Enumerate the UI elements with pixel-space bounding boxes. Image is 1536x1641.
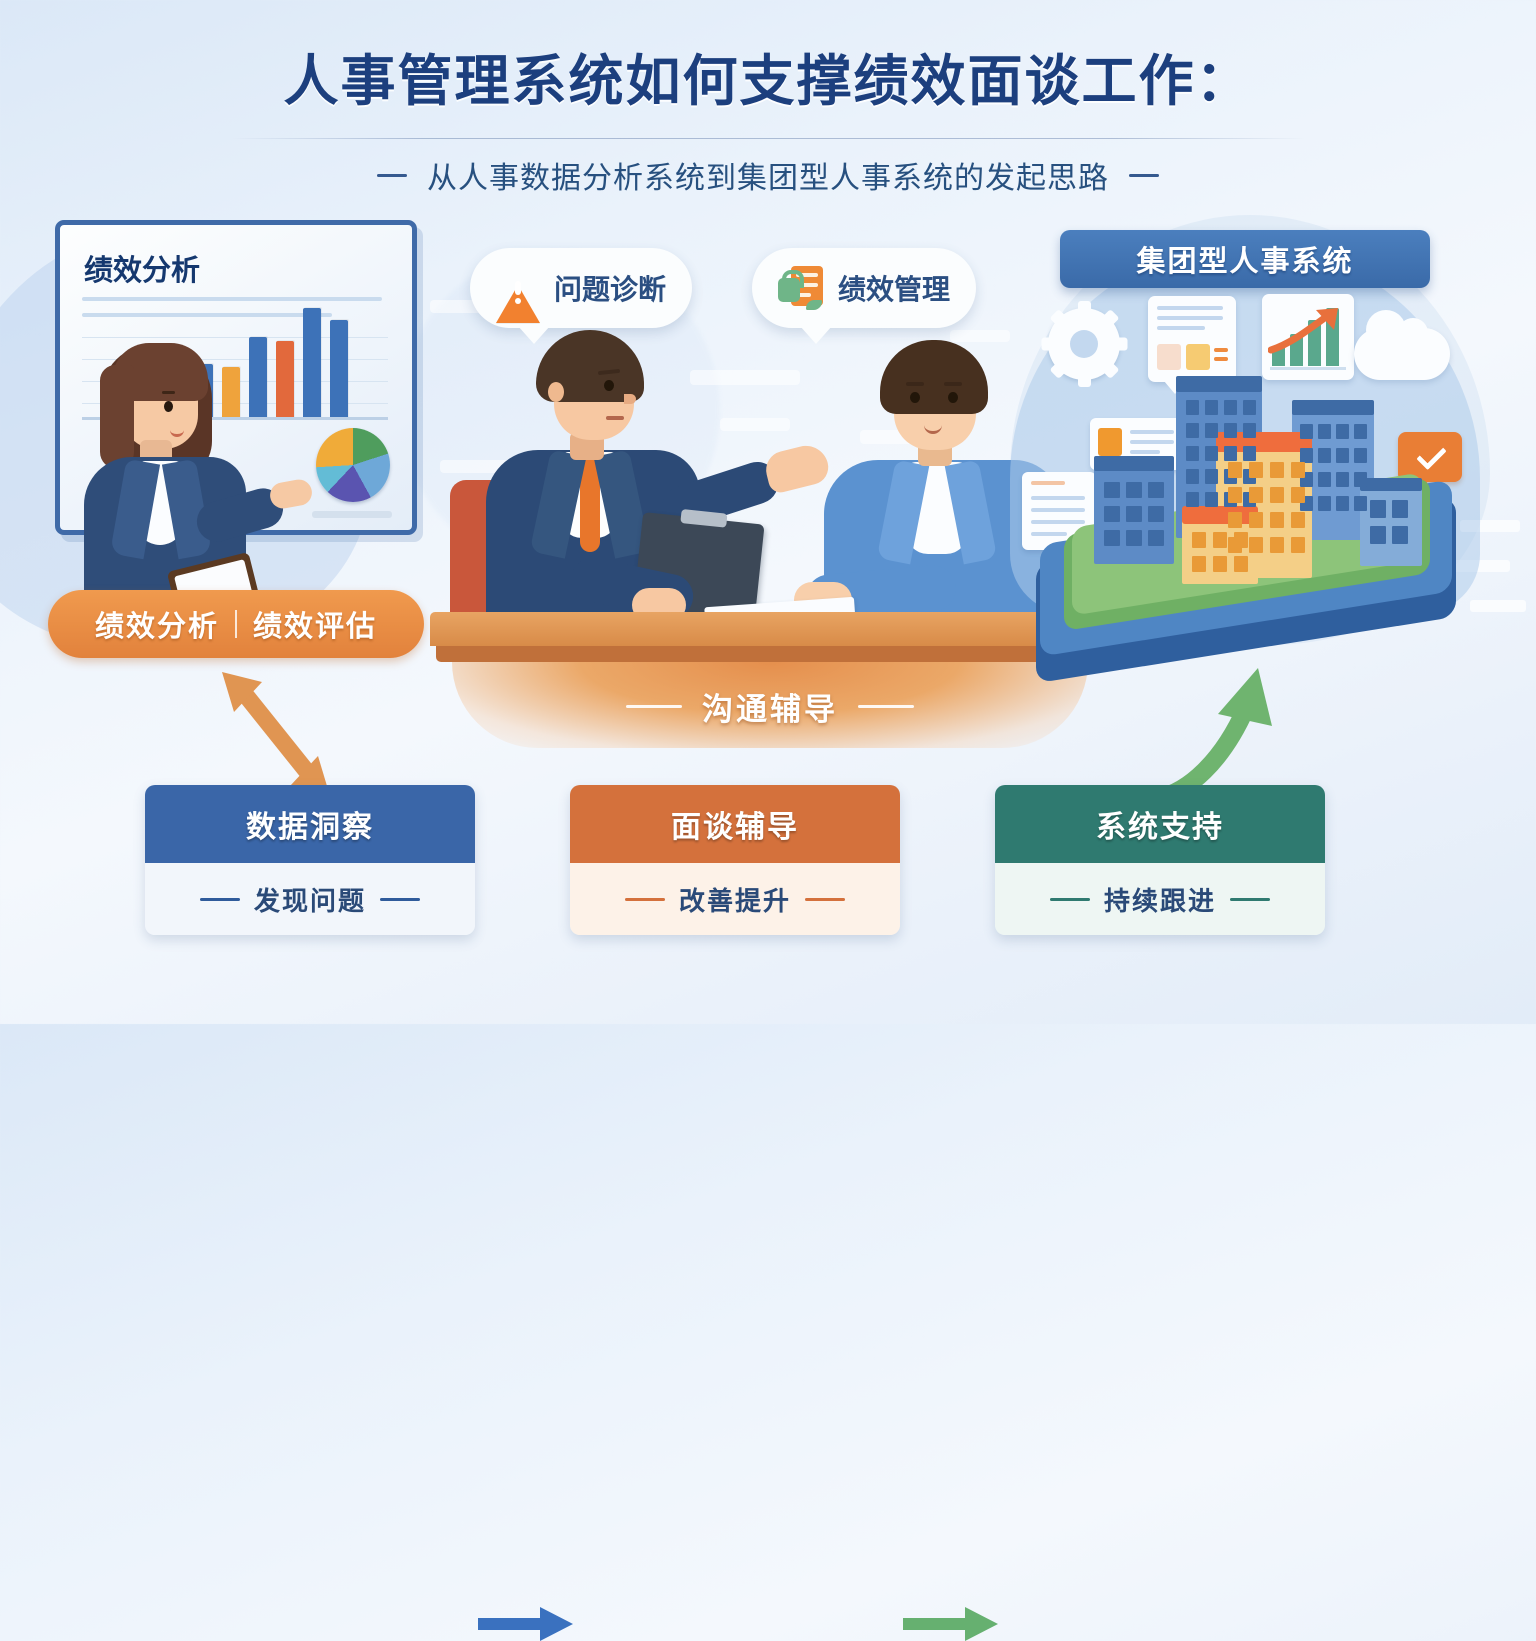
city-building-front-yellow [1182,520,1258,584]
building-window [1270,537,1284,553]
whiteboard-label: 绩效分析 [84,247,200,289]
building-window [1148,530,1164,546]
flow-step-dash-right [1230,898,1270,901]
employee-hair [880,340,988,414]
presenter-hair-side [100,365,134,469]
presenter-eye [164,401,173,412]
city-building-roof [1094,456,1174,471]
subtitle-dash-left [377,174,407,177]
building-window [1336,424,1349,439]
building-window [1186,446,1199,461]
infographic-canvas: 人事管理系统如何支撑绩效面谈工作： 从人事数据分析系统到集团型人事系统的发起思路… [0,0,1536,1024]
chart-bar [276,341,294,418]
building-window [1318,448,1331,463]
building-window [1213,532,1227,548]
interviewer-ear [548,382,564,402]
gear-tooth [1042,338,1060,351]
arrow-step2-to-step3 [903,1607,998,1641]
building-window [1205,400,1218,415]
flow-step-dash-left [200,898,240,901]
employee-brow-right [944,382,962,386]
flow-step-title: 系统支持 [1096,802,1224,846]
building-window [1291,462,1305,478]
building-window [1192,532,1206,548]
building-window [1243,423,1256,438]
building-window [1224,423,1237,438]
building-window [1126,530,1142,546]
flow-step-header: 系统支持 [995,785,1325,863]
building-window [1228,487,1242,503]
building-window [1148,506,1164,522]
building-window [1249,462,1263,478]
building-window [1104,506,1120,522]
building-window [1186,400,1199,415]
flow-step-dash-left [625,898,665,901]
bubble-problem-diagnosis: 问题诊断 [470,248,692,328]
building-window [1291,487,1305,503]
building-window [1243,446,1256,461]
building-window [1213,556,1227,572]
city-building-roof [1292,400,1374,415]
building-window [1392,500,1408,518]
analysis-banner: 绩效分析 绩效评估 [48,590,424,658]
flow-step-dash-left [1050,898,1090,901]
building-window [1270,462,1284,478]
bubble-text: 绩效管理 [838,268,950,308]
chart-bar [330,320,348,418]
building-window [1370,500,1386,518]
pie-chart [316,428,390,502]
building-window [1354,472,1367,487]
building-window [1186,469,1199,484]
analysis-banner-separator [235,610,237,638]
flow-step-header: 面谈辅导 [570,785,900,863]
building-window [1300,424,1313,439]
header: 人事管理系统如何支撑绩效面谈工作： 从人事数据分析系统到集团型人事系统的发起思路 [0,0,1536,197]
building-window [1148,482,1164,498]
bubble-performance-management: 绩效管理 [752,248,976,328]
flow-step-body: 发现问题 [145,863,475,935]
building-window [1354,448,1367,463]
building-window [1300,448,1313,463]
employee-eye-left [910,392,920,403]
interviewer-eye [604,380,614,391]
pie-chart-caption [312,511,392,518]
city-building-roof [1176,376,1262,392]
building-window [1205,492,1218,507]
flow-step-subtitle: 持续跟进 [1104,881,1216,918]
employee-eye-right [948,392,958,403]
flow-step-dash-right [380,898,420,901]
flow-step-subtitle: 改善提升 [679,881,791,918]
cloud-icon [1354,328,1450,380]
building-window [1336,472,1349,487]
page-title: 人事管理系统如何支撑绩效面谈工作： [0,36,1536,116]
interviewer-mouth [606,416,624,420]
building-window [1318,472,1331,487]
interviewer-nose [624,394,636,404]
building-window [1249,537,1263,553]
flow-step-title: 面谈辅导 [671,802,799,846]
building-window [1291,537,1305,553]
building-window [1186,492,1199,507]
desk-label: 沟通辅导 [702,684,838,729]
building-window [1104,482,1120,498]
building-window [1228,512,1242,528]
system-panel: 集团型人事系统 [1000,200,1500,670]
building-window [1318,496,1331,511]
building-window [1243,400,1256,415]
building-window [1224,400,1237,415]
flow-step-header: 数据洞察 [145,785,475,863]
building-window [1318,424,1331,439]
building-window [1228,462,1242,478]
building-window [1249,512,1263,528]
flow-step-title: 数据洞察 [246,802,374,846]
system-badge: 集团型人事系统 [1060,230,1430,288]
growth-arrow-icon [1268,306,1346,356]
subtitle-row: 从人事数据分析系统到集团型人事系统的发起思路 [0,153,1536,197]
building-window [1234,532,1248,548]
building-window [1291,512,1305,528]
building-window [1126,506,1142,522]
analysis-banner-right: 绩效评估 [253,603,377,645]
process-flow: 数据洞察 发现问题 面谈辅导 改善提升 [0,785,1536,945]
analysis-panel: 绩效分析 [40,205,460,645]
building-window [1234,556,1248,572]
city-building-front-roof [1182,506,1258,524]
gear-icon [1048,308,1120,380]
flow-step-body: 改善提升 [570,863,900,935]
building-window [1354,424,1367,439]
title-divider [231,138,1306,139]
building-window [1104,530,1120,546]
gear-tooth [1110,338,1128,351]
growth-chart-icon [1262,294,1354,380]
flow-step-data-insight[interactable]: 数据洞察 发现问题 [145,785,475,935]
presenter-brow [162,391,175,394]
analysis-banner-left: 绩效分析 [95,603,219,645]
gear-tooth [1078,301,1091,319]
desk-label-row: 沟通辅导 [452,684,1088,729]
bubble-text: 问题诊断 [554,268,666,308]
arrow-step1-to-step2 [478,1607,573,1641]
flow-step-system-support[interactable]: 系统支持 持续跟进 [995,785,1325,935]
desk-dash-left [626,705,682,708]
building-window [1186,423,1199,438]
chart-bar [303,308,321,418]
building-window [1224,446,1237,461]
city-building-roof [1360,478,1422,491]
subtitle-dash-right [1129,174,1159,177]
gear-tooth [1078,369,1091,387]
building-window [1205,446,1218,461]
building-window [1270,512,1284,528]
page-subtitle: 从人事数据分析系统到集团型人事系统的发起思路 [427,153,1109,197]
building-window [1192,556,1206,572]
flow-step-dash-right [805,898,845,901]
document-card-icon [1148,296,1236,382]
building-window [1249,487,1263,503]
employee-brow-left [906,382,924,386]
warning-triangle-icon [496,268,540,308]
building-window [1392,526,1408,544]
building-window [1354,496,1367,511]
flow-step-body: 持续跟进 [995,863,1325,935]
building-window [1336,448,1349,463]
system-badge-label: 集团型人事系统 [1136,238,1353,280]
building-window [1205,423,1218,438]
building-window [1336,496,1349,511]
building-window [1270,487,1284,503]
building-window [1370,526,1386,544]
flow-step-interview-coaching[interactable]: 面谈辅导 改善提升 [570,785,900,935]
interviewer-open-hand [762,441,832,495]
locked-document-icon [778,266,824,310]
desk-dash-right [858,705,914,708]
flow-step-subtitle: 发现问题 [254,881,366,918]
building-window [1126,482,1142,498]
building-window [1205,469,1218,484]
